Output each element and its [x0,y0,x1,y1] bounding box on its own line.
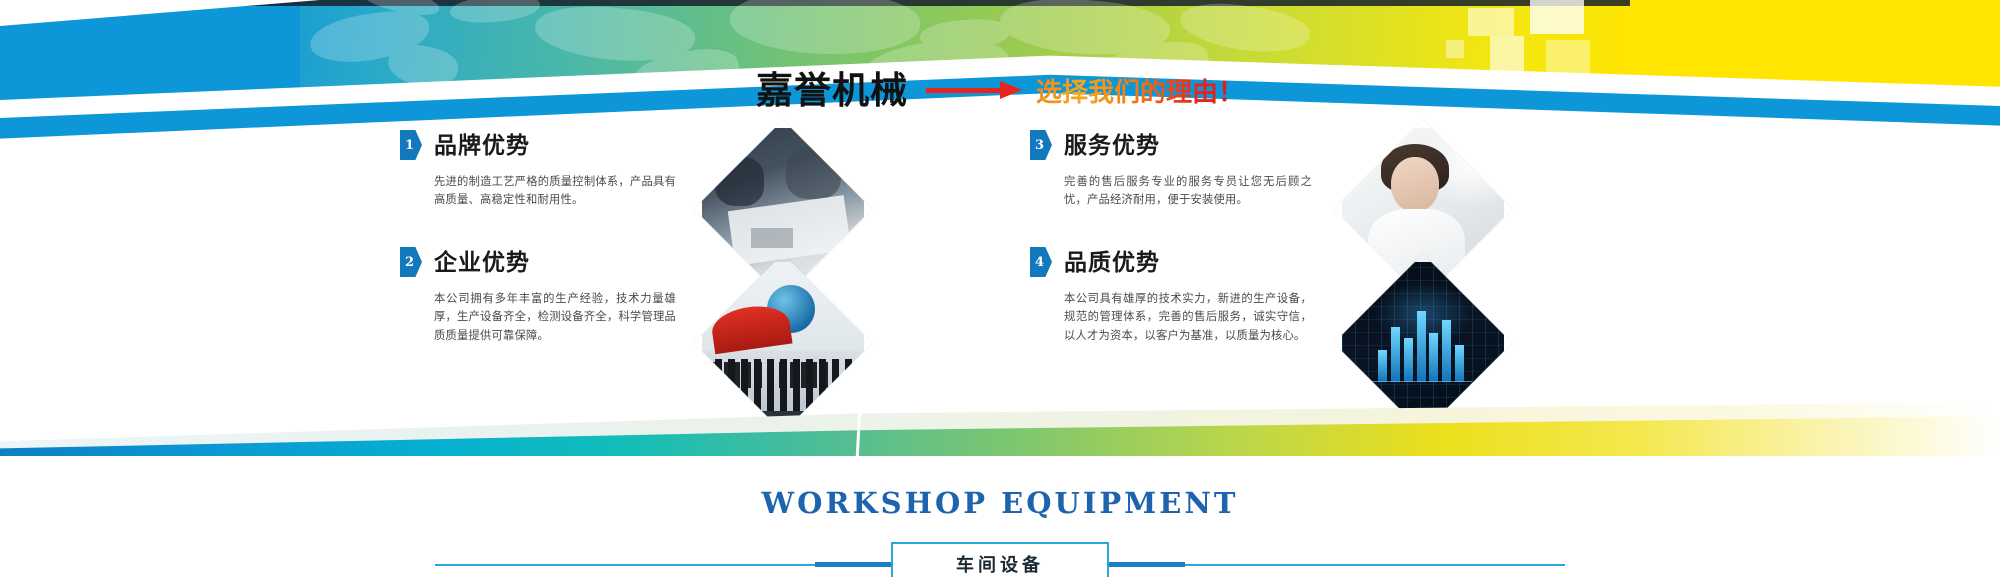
company-name: 嘉誉机械 [756,72,908,109]
section-header: 嘉誉机械 选择我们的理由！ [0,62,2000,118]
feature-title: 品质优势 [1064,251,1160,274]
feature-body: 完善的售后服务专业的服务专员让您无后顾之忧，产品经济耐用，便于安装使用。 [1064,173,1312,210]
feature-number-badge: 3 [1030,130,1052,160]
feature-number-badge: 2 [400,247,422,277]
bottom-gradient-ribbon [0,398,2000,476]
feature-title: 品牌优势 [434,134,530,157]
workshop-divider: 车间设备 [435,542,1565,577]
feature-number-badge: 4 [1030,247,1052,277]
workshop-title-en: WORKSHOP EQUIPMENT [0,482,2000,520]
header-tagline: 选择我们的理由！ [1036,72,1244,109]
promo-page: 嘉誉机械 选择我们的理由！ 1 品牌优势 先进的制造工艺严格的质量控制体系，产品… [0,0,2000,577]
workshop-title-cn-box: 车间设备 [891,542,1109,577]
feature-number-badge: 1 [400,130,422,160]
features-section: 1 品牌优势 先进的制造工艺严格的质量控制体系，产品具有高质量、高稳定性和耐用性… [0,128,2000,398]
ribbon-bottom-mask [0,456,2000,476]
feature-title: 服务优势 [1064,134,1160,157]
feature-body: 本公司拥有多年丰富的生产经验，技术力量雄厚，生产设备齐全，检测设备齐全，科学管理… [434,290,676,345]
feature-body: 本公司具有雄厚的技术实力，新进的生产设备，规范的管理体系，完善的售后服务，诚实守… [1064,290,1312,345]
banner-square-decor [1446,40,1464,58]
workshop-title-cn: 车间设备 [956,551,1044,577]
right-arrow-icon [926,86,1022,94]
workshop-section: WORKSHOP EQUIPMENT 车间设备 [0,482,2000,577]
banner-square-decor [1530,0,1584,34]
feature-body: 先进的制造工艺严格的质量控制体系，产品具有高质量、高稳定性和耐用性。 [434,173,676,210]
banner-square-decor [1468,8,1514,36]
feature-title: 企业优势 [434,251,530,274]
